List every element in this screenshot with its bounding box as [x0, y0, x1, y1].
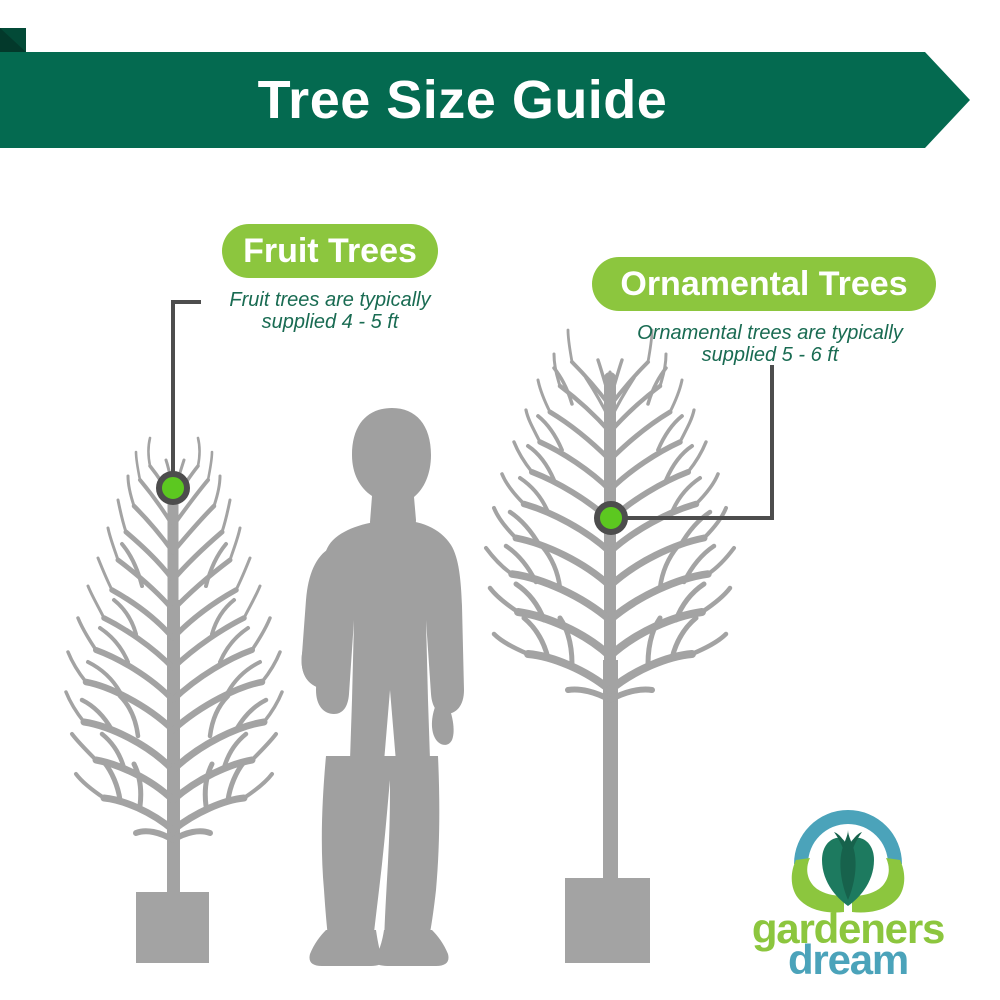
ornamental-tree-pot — [565, 878, 650, 963]
brand-name-line-2: dream — [748, 939, 948, 981]
brand-logo-text: gardeners dream — [748, 908, 948, 986]
ornamental-trees-caption: Ornamental trees are typically supplied … — [620, 322, 920, 367]
person-silhouette — [302, 408, 465, 966]
fruit-trees-label[interactable]: Fruit Trees — [222, 224, 438, 278]
fruit-tree-height-marker[interactable] — [159, 474, 187, 502]
fruit-tree-pot — [136, 892, 209, 963]
page-title: Tree Size Guide — [0, 52, 925, 148]
brand-logo[interactable]: gardeners dream — [748, 800, 948, 985]
fruit-trees-caption: Fruit trees are typically supplied 4 - 5… — [200, 289, 460, 334]
fruit-leader-line — [173, 302, 201, 488]
infographic-canvas: Tree Size Guide Fruit Trees Fruit trees … — [0, 0, 1000, 1000]
ornamental-tree-height-marker[interactable] — [597, 504, 625, 532]
fruit-tree-trunk — [167, 600, 180, 895]
plant-in-hands-logo-icon — [784, 800, 912, 918]
ornamental-leader-line — [611, 365, 772, 518]
header-banner-wrap: Tree Size Guide — [0, 28, 1000, 168]
fruit-tree-figure — [66, 438, 282, 895]
ornamental-trees-label[interactable]: Ornamental Trees — [592, 257, 936, 311]
